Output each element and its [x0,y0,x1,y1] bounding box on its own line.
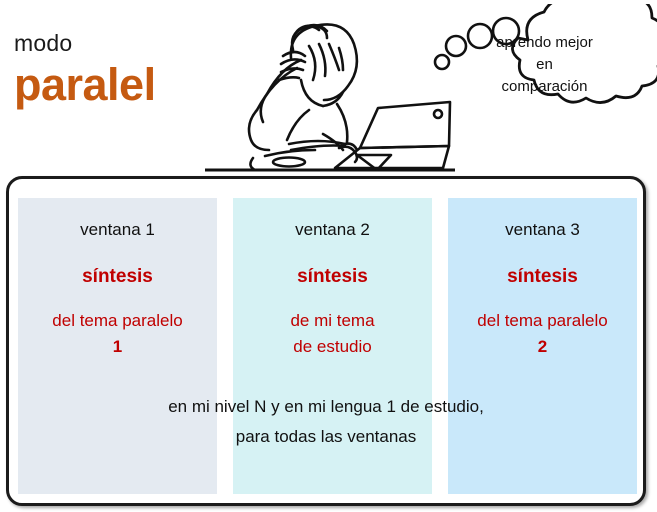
footer-line-2: para todas las ventanas [6,422,646,452]
window-3-title: ventana 3 [448,220,637,240]
window-1-synthesis: síntesis [18,266,217,288]
window-3-description: del tema paralelo 2 [445,308,640,361]
window-2-description: de mi tema de estudio [230,308,435,361]
window-1-desc-line-2: 1 [15,334,220,360]
window-3-desc-line-1: del tema paralelo [445,308,640,334]
footer-line-1: en mi nivel N y en mi lengua 1 de estudi… [6,392,646,422]
window-2-synthesis: síntesis [233,266,432,288]
window-2-title: ventana 2 [233,220,432,240]
window-2-desc-line-1: de mi tema [230,308,435,334]
window-3-desc-line-2: 2 [445,334,640,360]
window-3-synthesis: síntesis [448,266,637,288]
window-1-description: del tema paralelo 1 [15,308,220,361]
window-1-desc-line-1: del tema paralelo [15,308,220,334]
window-2-desc-line-2: de estudio [230,334,435,360]
diagram-footer-note: en mi nivel N y en mi lengua 1 de estudi… [6,392,646,452]
window-1-title: ventana 1 [18,220,217,240]
diagram-canvas: modo paralel [0,0,657,512]
